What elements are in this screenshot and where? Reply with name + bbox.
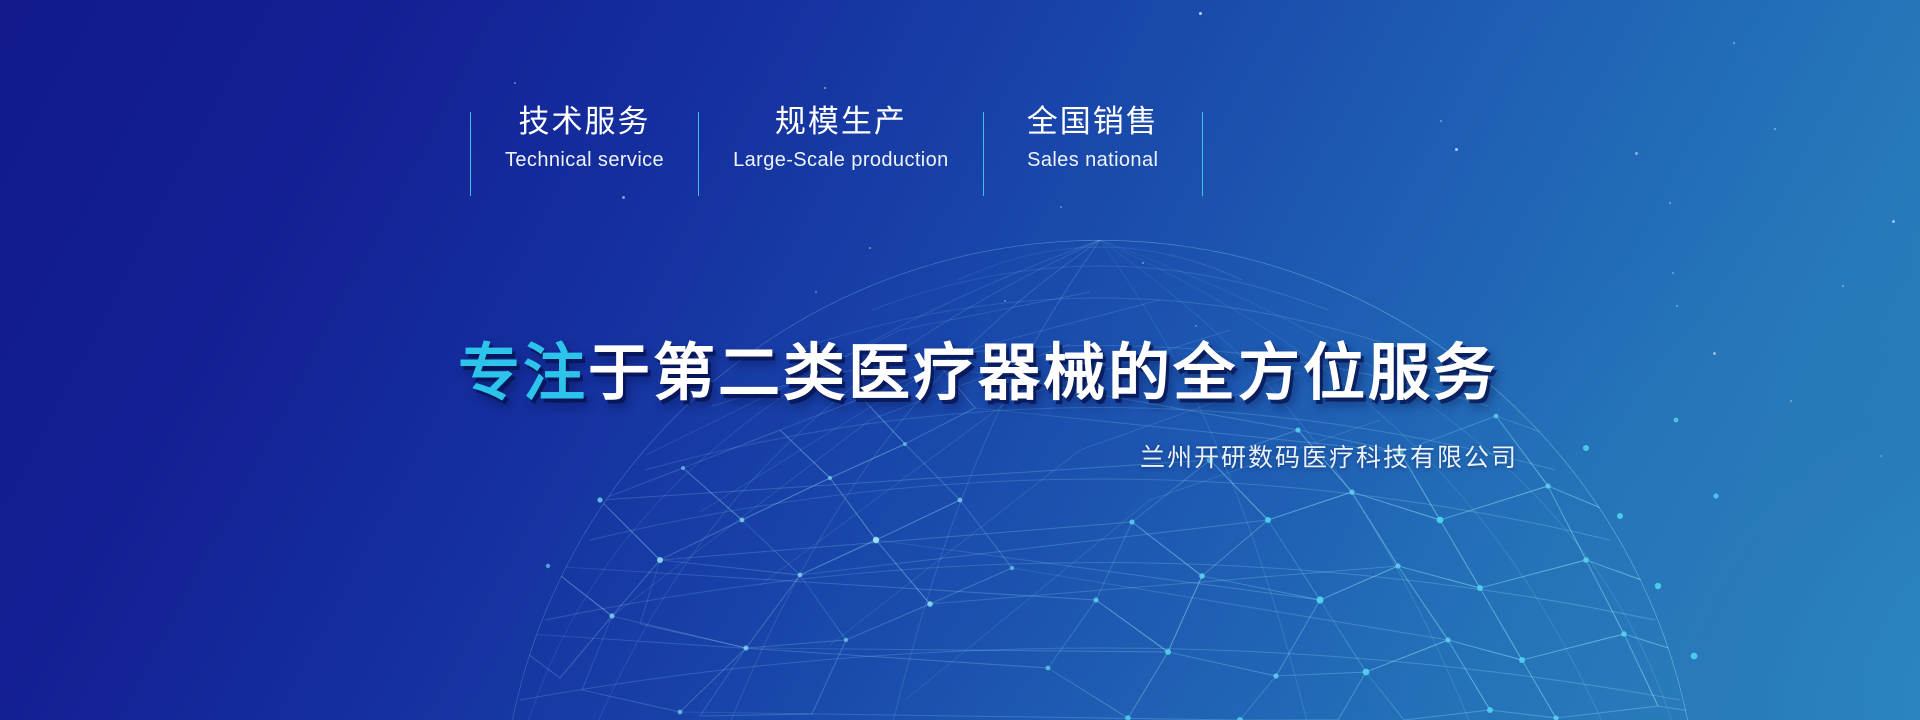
star-dot: [1669, 202, 1671, 204]
star-dot: [1713, 352, 1716, 355]
nav-separator: [1202, 112, 1203, 196]
star-dot: [1060, 206, 1062, 208]
star-dot: [869, 247, 871, 249]
feature-nav: 技术服务 Technical service 规模生产 Large-Scale …: [470, 100, 1203, 196]
star-dot: [1676, 305, 1678, 307]
feature-title-en: Large-Scale production: [733, 144, 949, 176]
hero-banner: 技术服务 Technical service 规模生产 Large-Scale …: [0, 0, 1920, 720]
star-dot: [1880, 455, 1882, 457]
star-dot: [1790, 400, 1792, 402]
star-dot: [1892, 220, 1895, 223]
star-dot: [1672, 272, 1674, 274]
feature-title-en: Sales national: [1027, 144, 1158, 176]
feature-title-cn: 全国销售: [1027, 100, 1159, 144]
feature-item-large-scale-production[interactable]: 规模生产 Large-Scale production: [699, 100, 983, 196]
star-dot: [1635, 152, 1638, 155]
star-dot: [1774, 128, 1776, 130]
star-dot: [815, 291, 817, 293]
star-dot: [1142, 262, 1144, 264]
nav-separator: [983, 112, 984, 196]
globe-nodes: [546, 414, 1719, 720]
feature-title-cn: 技术服务: [519, 100, 651, 144]
headline-accent-text: 专注: [458, 339, 588, 408]
feature-title-cn: 规模生产: [775, 100, 907, 144]
headline-main-text: 于第二类医疗器械的全方位服务: [588, 339, 1498, 408]
star-dot: [824, 87, 826, 89]
star-dot: [1004, 300, 1006, 302]
star-dot: [514, 82, 516, 84]
hero-headline: 专注于第二类医疗器械的全方位服务: [458, 338, 1498, 410]
star-dot: [1440, 120, 1442, 122]
company-name: 兰州开研数码医疗科技有限公司: [1140, 440, 1518, 476]
feature-item-sales-national[interactable]: 全国销售 Sales national: [984, 100, 1202, 196]
nav-separator: [698, 112, 699, 196]
nav-separator: [470, 112, 471, 196]
star-dot: [622, 196, 625, 199]
star-dot: [1455, 148, 1458, 151]
star-dot: [1195, 325, 1197, 327]
star-dot: [1842, 285, 1844, 287]
feature-item-technical-service[interactable]: 技术服务 Technical service: [471, 100, 698, 196]
star-dot: [1199, 12, 1202, 15]
globe-glow: [480, 220, 1720, 720]
star-dot: [1733, 42, 1735, 44]
globe-mesh-group: [494, 240, 1748, 720]
feature-title-en: Technical service: [505, 144, 664, 176]
